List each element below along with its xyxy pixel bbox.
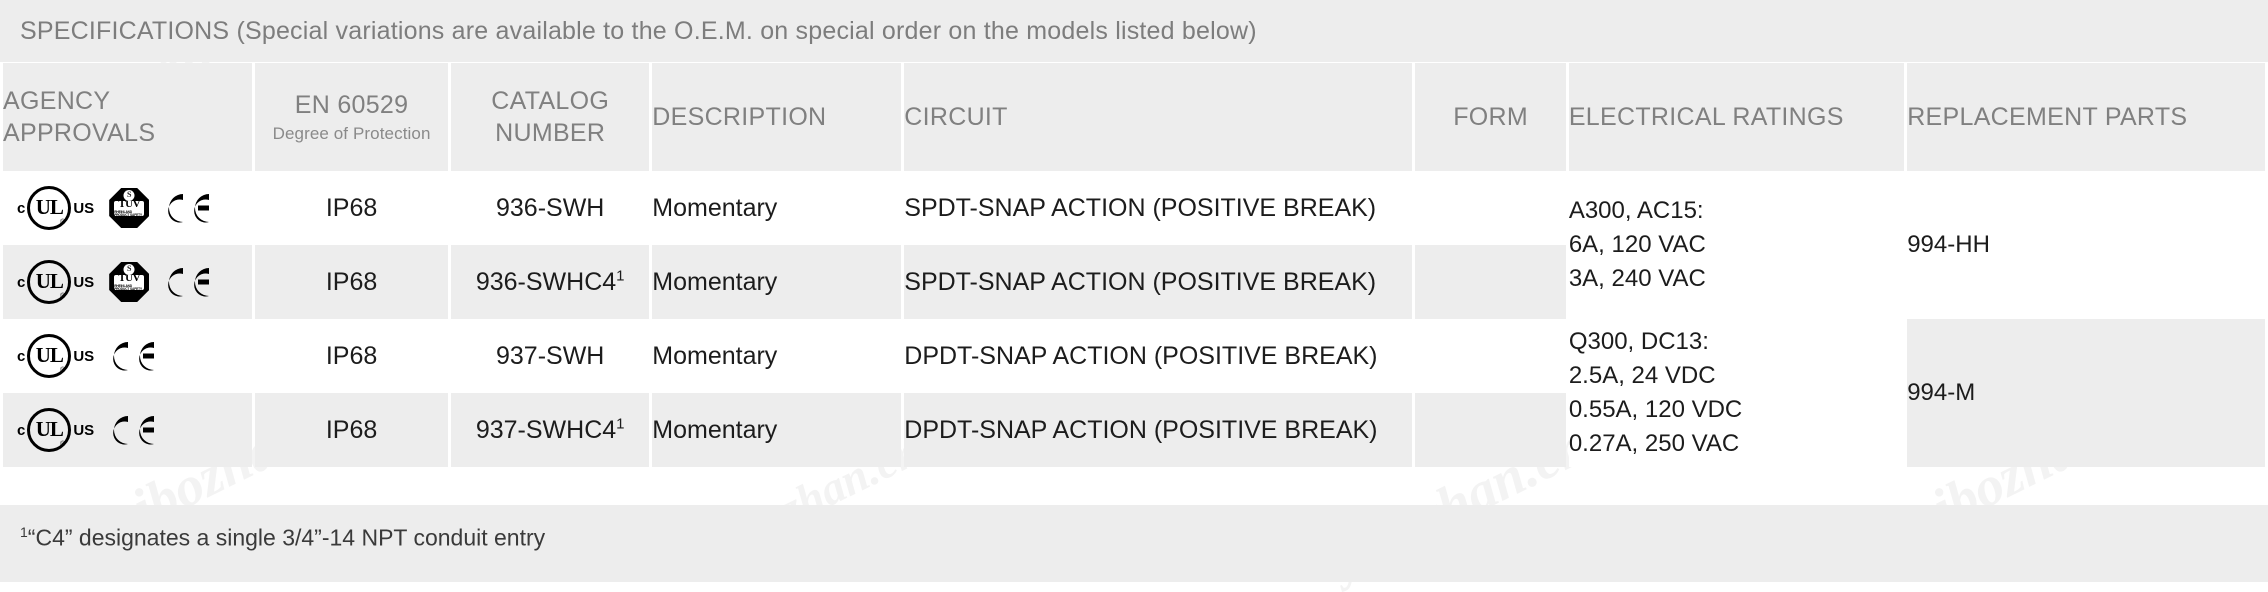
table-body: c UL ® US S TÜV RHEINLAND PRODUCT SAF — [3, 171, 2265, 467]
header-line-1: CIRCUIT — [904, 103, 1007, 131]
cell-description: Momentary — [652, 245, 901, 319]
column-header-form: FORM — [1415, 63, 1565, 171]
header-line-2: APPROVALS — [3, 119, 155, 147]
tuv-subtext: RHEINLAND PRODUCT SAFETY — [114, 211, 144, 217]
cell-form — [1415, 171, 1565, 245]
table-header-row: AGENCY APPROVALS EN 60529 Degree of Prot… — [3, 63, 2265, 171]
catalog-value: 937-SWH — [496, 342, 604, 370]
catalog-footnote-marker: 1 — [616, 267, 624, 284]
cell-catalog-number: 937-SWH — [451, 319, 649, 393]
ul-c-label: c — [17, 275, 25, 290]
cell-electrical-ratings: Q300, DC13: 2.5A, 24 VDC 0.55A, 120 VDC … — [1569, 319, 1904, 467]
ul-c-label: c — [17, 201, 25, 216]
ul-circle-icon: UL ® — [27, 334, 71, 378]
catalog-footnote-marker: 1 — [616, 415, 624, 432]
agency-marks-group: c UL ® US — [3, 334, 252, 378]
catalog-value: 936-SWH — [496, 194, 604, 222]
cell-description: Momentary — [652, 319, 901, 393]
tuv-icon: S TÜV RHEINLAND PRODUCT SAFETY — [109, 188, 149, 228]
cell-circuit: SPDT-SNAP ACTION (POSITIVE BREAK) — [904, 171, 1412, 245]
registered-icon: ® — [60, 367, 65, 374]
cULus-icon: c UL ® US — [17, 408, 94, 452]
cell-en60529: IP68 — [255, 393, 448, 467]
ul-circle-icon: UL ® — [27, 408, 71, 452]
column-header-circuit: CIRCUIT — [904, 63, 1412, 171]
ul-circle-icon: UL ® — [27, 186, 71, 230]
cell-catalog-number: 937-SWHC41 — [451, 393, 649, 467]
footnote-body: “C4” designates a single 3/4”-14 NPT con… — [28, 525, 545, 551]
cell-circuit: DPDT-SNAP ACTION (POSITIVE BREAK) — [904, 319, 1412, 393]
ul-us-label: US — [73, 349, 94, 364]
ul-c-label: c — [17, 349, 25, 364]
header-line-1: EN 60529 — [295, 91, 409, 119]
cULus-icon: c UL ® US — [17, 334, 94, 378]
cell-catalog-number: 936-SWH — [451, 171, 649, 245]
cell-replacement-parts: 994-HH — [1907, 171, 2265, 319]
cell-circuit: DPDT-SNAP ACTION (POSITIVE BREAK) — [904, 393, 1412, 467]
table-row: c UL ® US S TÜV RHEINLAND PRODUCT SAF — [3, 171, 2265, 245]
cell-catalog-number: 936-SWHC41 — [451, 245, 649, 319]
cell-agency-approvals: c UL ® US S TÜV RHEINLAND PRODUCT SAF — [3, 171, 252, 245]
cell-en60529: IP68 — [255, 319, 448, 393]
registered-icon: ® — [60, 219, 65, 226]
registered-icon: ® — [60, 293, 65, 300]
electrical-ratings-value: Q300, DC13: 2.5A, 24 VDC 0.55A, 120 VDC … — [1569, 328, 1742, 457]
header-subtext: Degree of Protection — [255, 123, 448, 145]
column-header-description: DESCRIPTION — [652, 63, 901, 171]
ce-icon — [164, 265, 210, 299]
tuv-subtext: RHEINLAND PRODUCT SAFETY — [114, 285, 144, 291]
column-header-electrical-ratings: ELECTRICAL RATINGS — [1569, 63, 1904, 171]
cell-circuit: SPDT-SNAP ACTION (POSITIVE BREAK) — [904, 245, 1412, 319]
cell-en60529: IP68 — [255, 171, 448, 245]
ul-us-label: US — [73, 275, 94, 290]
agency-marks-group: c UL ® US S TÜV RHEINLAND PRODUCT SAF — [3, 260, 252, 304]
ce-icon — [164, 191, 210, 225]
catalog-value: 936-SWHC4 — [476, 268, 616, 296]
tuv-inner-plate: TÜV RHEINLAND PRODUCT SAFETY — [114, 201, 144, 216]
cell-agency-approvals: c UL ® US — [3, 393, 252, 467]
agency-marks-group: c UL ® US S TÜV RHEINLAND PRODUCT SAF — [3, 186, 252, 230]
cell-form — [1415, 319, 1565, 393]
tuv-badge-letter: S — [124, 190, 135, 201]
ce-icon — [109, 413, 155, 447]
column-header-replacement-parts: REPLACEMENT PARTS — [1907, 63, 2265, 171]
cell-electrical-ratings: A300, AC15: 6A, 120 VAC 3A, 240 VAC — [1569, 171, 1904, 319]
cULus-icon: c UL ® US — [17, 260, 94, 304]
ul-us-label: US — [73, 423, 94, 438]
specifications-table-panel: yibozhan.cn yibozhan.cn yibozhan.cn yibo… — [0, 0, 2268, 582]
column-header-agency-approvals: AGENCY APPROVALS — [3, 63, 252, 171]
tuv-badge-letter: S — [124, 264, 135, 275]
catalog-value: 937-SWHC4 — [476, 416, 616, 444]
cell-agency-approvals: c UL ® US — [3, 319, 252, 393]
footnote-marker: 1 — [20, 524, 28, 540]
footnote: 1“C4” designates a single 3/4”-14 NPT co… — [20, 524, 545, 552]
header-line-1: AGENCY — [3, 87, 110, 115]
registered-icon: ® — [60, 441, 65, 448]
electrical-ratings-value: A300, AC15: 6A, 120 VAC 3A, 240 VAC — [1569, 197, 1706, 292]
header-line-1: CATALOG — [491, 87, 609, 115]
specifications-title-band: SPECIFICATIONS (Special variations are a… — [0, 0, 2268, 62]
cell-form — [1415, 245, 1565, 319]
header-line-1: REPLACEMENT PARTS — [1907, 103, 2187, 131]
tuv-inner-plate: TÜV RHEINLAND PRODUCT SAFETY — [114, 275, 144, 290]
cell-agency-approvals: c UL ® US S TÜV RHEINLAND PRODUCT SAF — [3, 245, 252, 319]
cell-description: Momentary — [652, 171, 901, 245]
ce-icon — [109, 339, 155, 373]
header-line-1: DESCRIPTION — [652, 103, 826, 131]
specifications-table: AGENCY APPROVALS EN 60529 Degree of Prot… — [0, 63, 2268, 467]
cell-replacement-parts: 994-M — [1907, 319, 2265, 467]
ul-c-label: c — [17, 423, 25, 438]
column-header-en60529: EN 60529 Degree of Protection — [255, 63, 448, 171]
header-line-1: ELECTRICAL RATINGS — [1569, 103, 1844, 131]
tuv-icon: S TÜV RHEINLAND PRODUCT SAFETY — [109, 262, 149, 302]
cell-form — [1415, 393, 1565, 467]
page-title: SPECIFICATIONS (Special variations are a… — [0, 17, 1257, 46]
cULus-icon: c UL ® US — [17, 186, 94, 230]
column-header-catalog-number: CATALOG NUMBER — [451, 63, 649, 171]
cell-en60529: IP68 — [255, 245, 448, 319]
agency-marks-group: c UL ® US — [3, 408, 252, 452]
cell-description: Momentary — [652, 393, 901, 467]
footnote-band: 1“C4” designates a single 3/4”-14 NPT co… — [0, 505, 2268, 582]
ul-us-label: US — [73, 201, 94, 216]
table-row: c UL ® US — [3, 319, 2265, 393]
header-line-2: NUMBER — [495, 119, 605, 147]
header-line-1: FORM — [1453, 103, 1528, 131]
ul-circle-icon: UL ® — [27, 260, 71, 304]
